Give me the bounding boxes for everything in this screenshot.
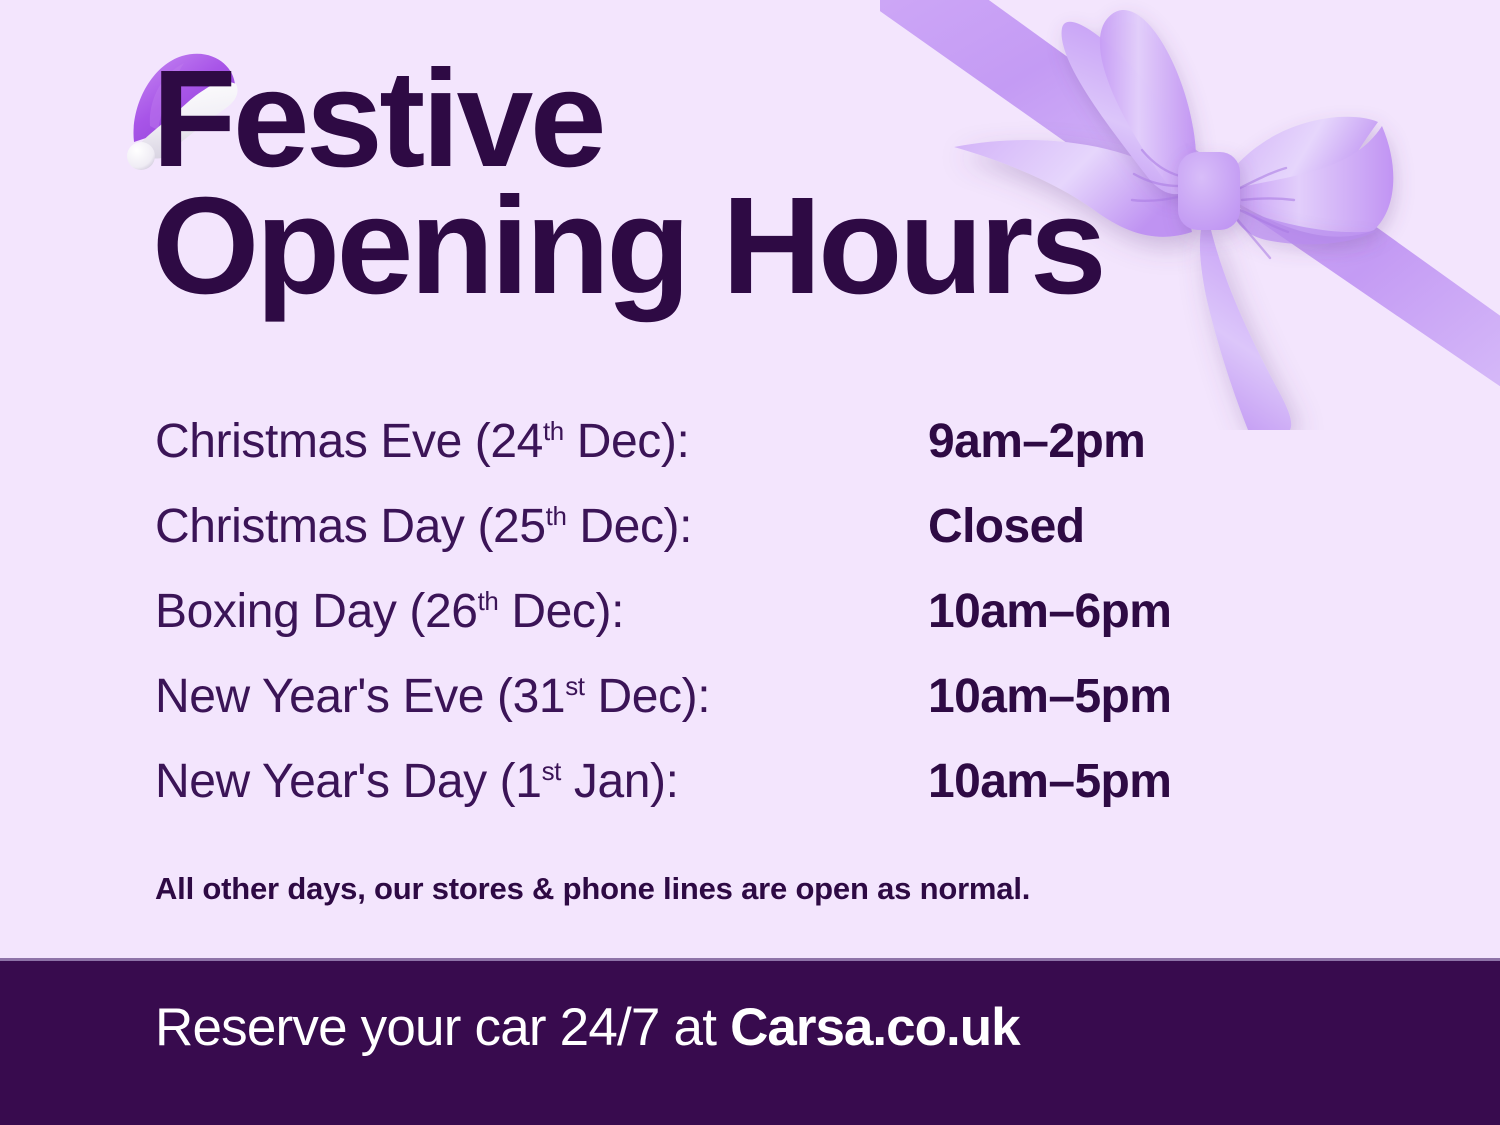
hours-value: 10am–5pm bbox=[928, 754, 1171, 809]
hours-value: 9am–2pm bbox=[928, 414, 1145, 469]
hours-label-prefix: New Year's Day (1 bbox=[155, 755, 542, 808]
hours-label-suffix: Dec): bbox=[564, 415, 690, 468]
hours-label-ordinal: th bbox=[543, 418, 564, 446]
hours-label-suffix: Dec): bbox=[566, 500, 692, 553]
hours-value: Closed bbox=[928, 499, 1084, 554]
hours-label-prefix: Christmas Day (25 bbox=[155, 500, 546, 553]
hours-label: Christmas Day (25th Dec): bbox=[155, 499, 928, 554]
hours-label-prefix: Christmas Eve (24 bbox=[155, 415, 543, 468]
festive-opening-hours-poster: Festive Opening Hours Christmas Eve (24t… bbox=[0, 0, 1500, 1125]
footer-lead-text: Reserve your car 24/7 at bbox=[155, 998, 730, 1057]
all-other-days-note: All other days, our stores & phone lines… bbox=[155, 871, 1030, 907]
page-title: Festive Opening Hours bbox=[152, 56, 1272, 310]
hours-label: Christmas Eve (24th Dec): bbox=[155, 414, 928, 469]
footer-cta: Reserve your car 24/7 at Carsa.co.uk bbox=[155, 997, 1020, 1058]
table-row: Christmas Eve (24th Dec): 9am–2pm bbox=[155, 414, 1355, 499]
table-row: New Year's Eve (31st Dec): 10am–5pm bbox=[155, 669, 1355, 754]
hours-label: Boxing Day (26th Dec): bbox=[155, 584, 928, 639]
hours-label-suffix: Dec): bbox=[498, 585, 624, 638]
brand-name: Carsa.co.uk bbox=[730, 998, 1019, 1057]
hours-label-ordinal: th bbox=[478, 588, 499, 616]
table-row: Boxing Day (26th Dec): 10am–6pm bbox=[155, 584, 1355, 669]
table-row: New Year's Day (1st Jan): 10am–5pm bbox=[155, 754, 1355, 839]
hours-label: New Year's Eve (31st Dec): bbox=[155, 669, 928, 724]
hours-label-ordinal: st bbox=[565, 673, 584, 701]
hours-label-prefix: Boxing Day (26 bbox=[155, 585, 478, 638]
hours-label-suffix: Dec): bbox=[585, 670, 711, 723]
hours-label: New Year's Day (1st Jan): bbox=[155, 754, 928, 809]
footer-bar: Reserve your car 24/7 at Carsa.co.uk bbox=[0, 958, 1500, 1125]
hours-label-ordinal: st bbox=[542, 758, 561, 786]
table-row: Christmas Day (25th Dec): Closed bbox=[155, 499, 1355, 584]
opening-hours-table: Christmas Eve (24th Dec): 9am–2pm Christ… bbox=[155, 414, 1355, 839]
hours-value: 10am–5pm bbox=[928, 669, 1171, 724]
hours-label-prefix: New Year's Eve (31 bbox=[155, 670, 565, 723]
hours-label-ordinal: th bbox=[546, 503, 567, 531]
hours-label-suffix: Jan): bbox=[561, 755, 679, 808]
hours-value: 10am–6pm bbox=[928, 584, 1171, 639]
